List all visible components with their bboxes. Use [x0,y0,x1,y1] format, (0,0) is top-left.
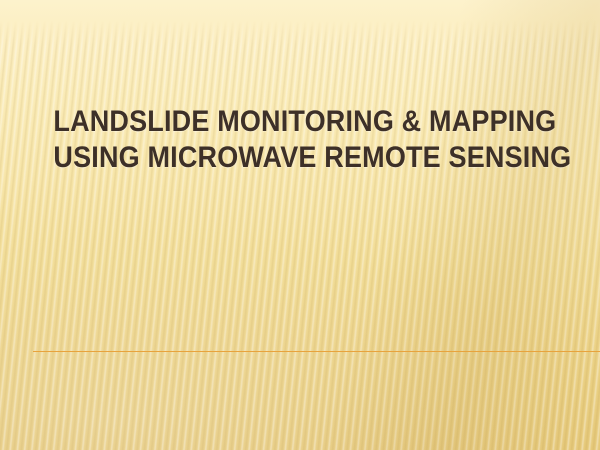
title-slide: Landslide Monitoring & Mapping Using Mic… [0,0,600,450]
slide-title-line-2: Using Microwave Remote Sensing [53,140,546,176]
slide-title-line-1: Landslide Monitoring & Mapping [53,104,546,140]
title-divider-rule [33,351,600,352]
slide-title: Landslide Monitoring & Mapping Using Mic… [0,104,600,176]
slide-background-sheen [0,0,600,450]
